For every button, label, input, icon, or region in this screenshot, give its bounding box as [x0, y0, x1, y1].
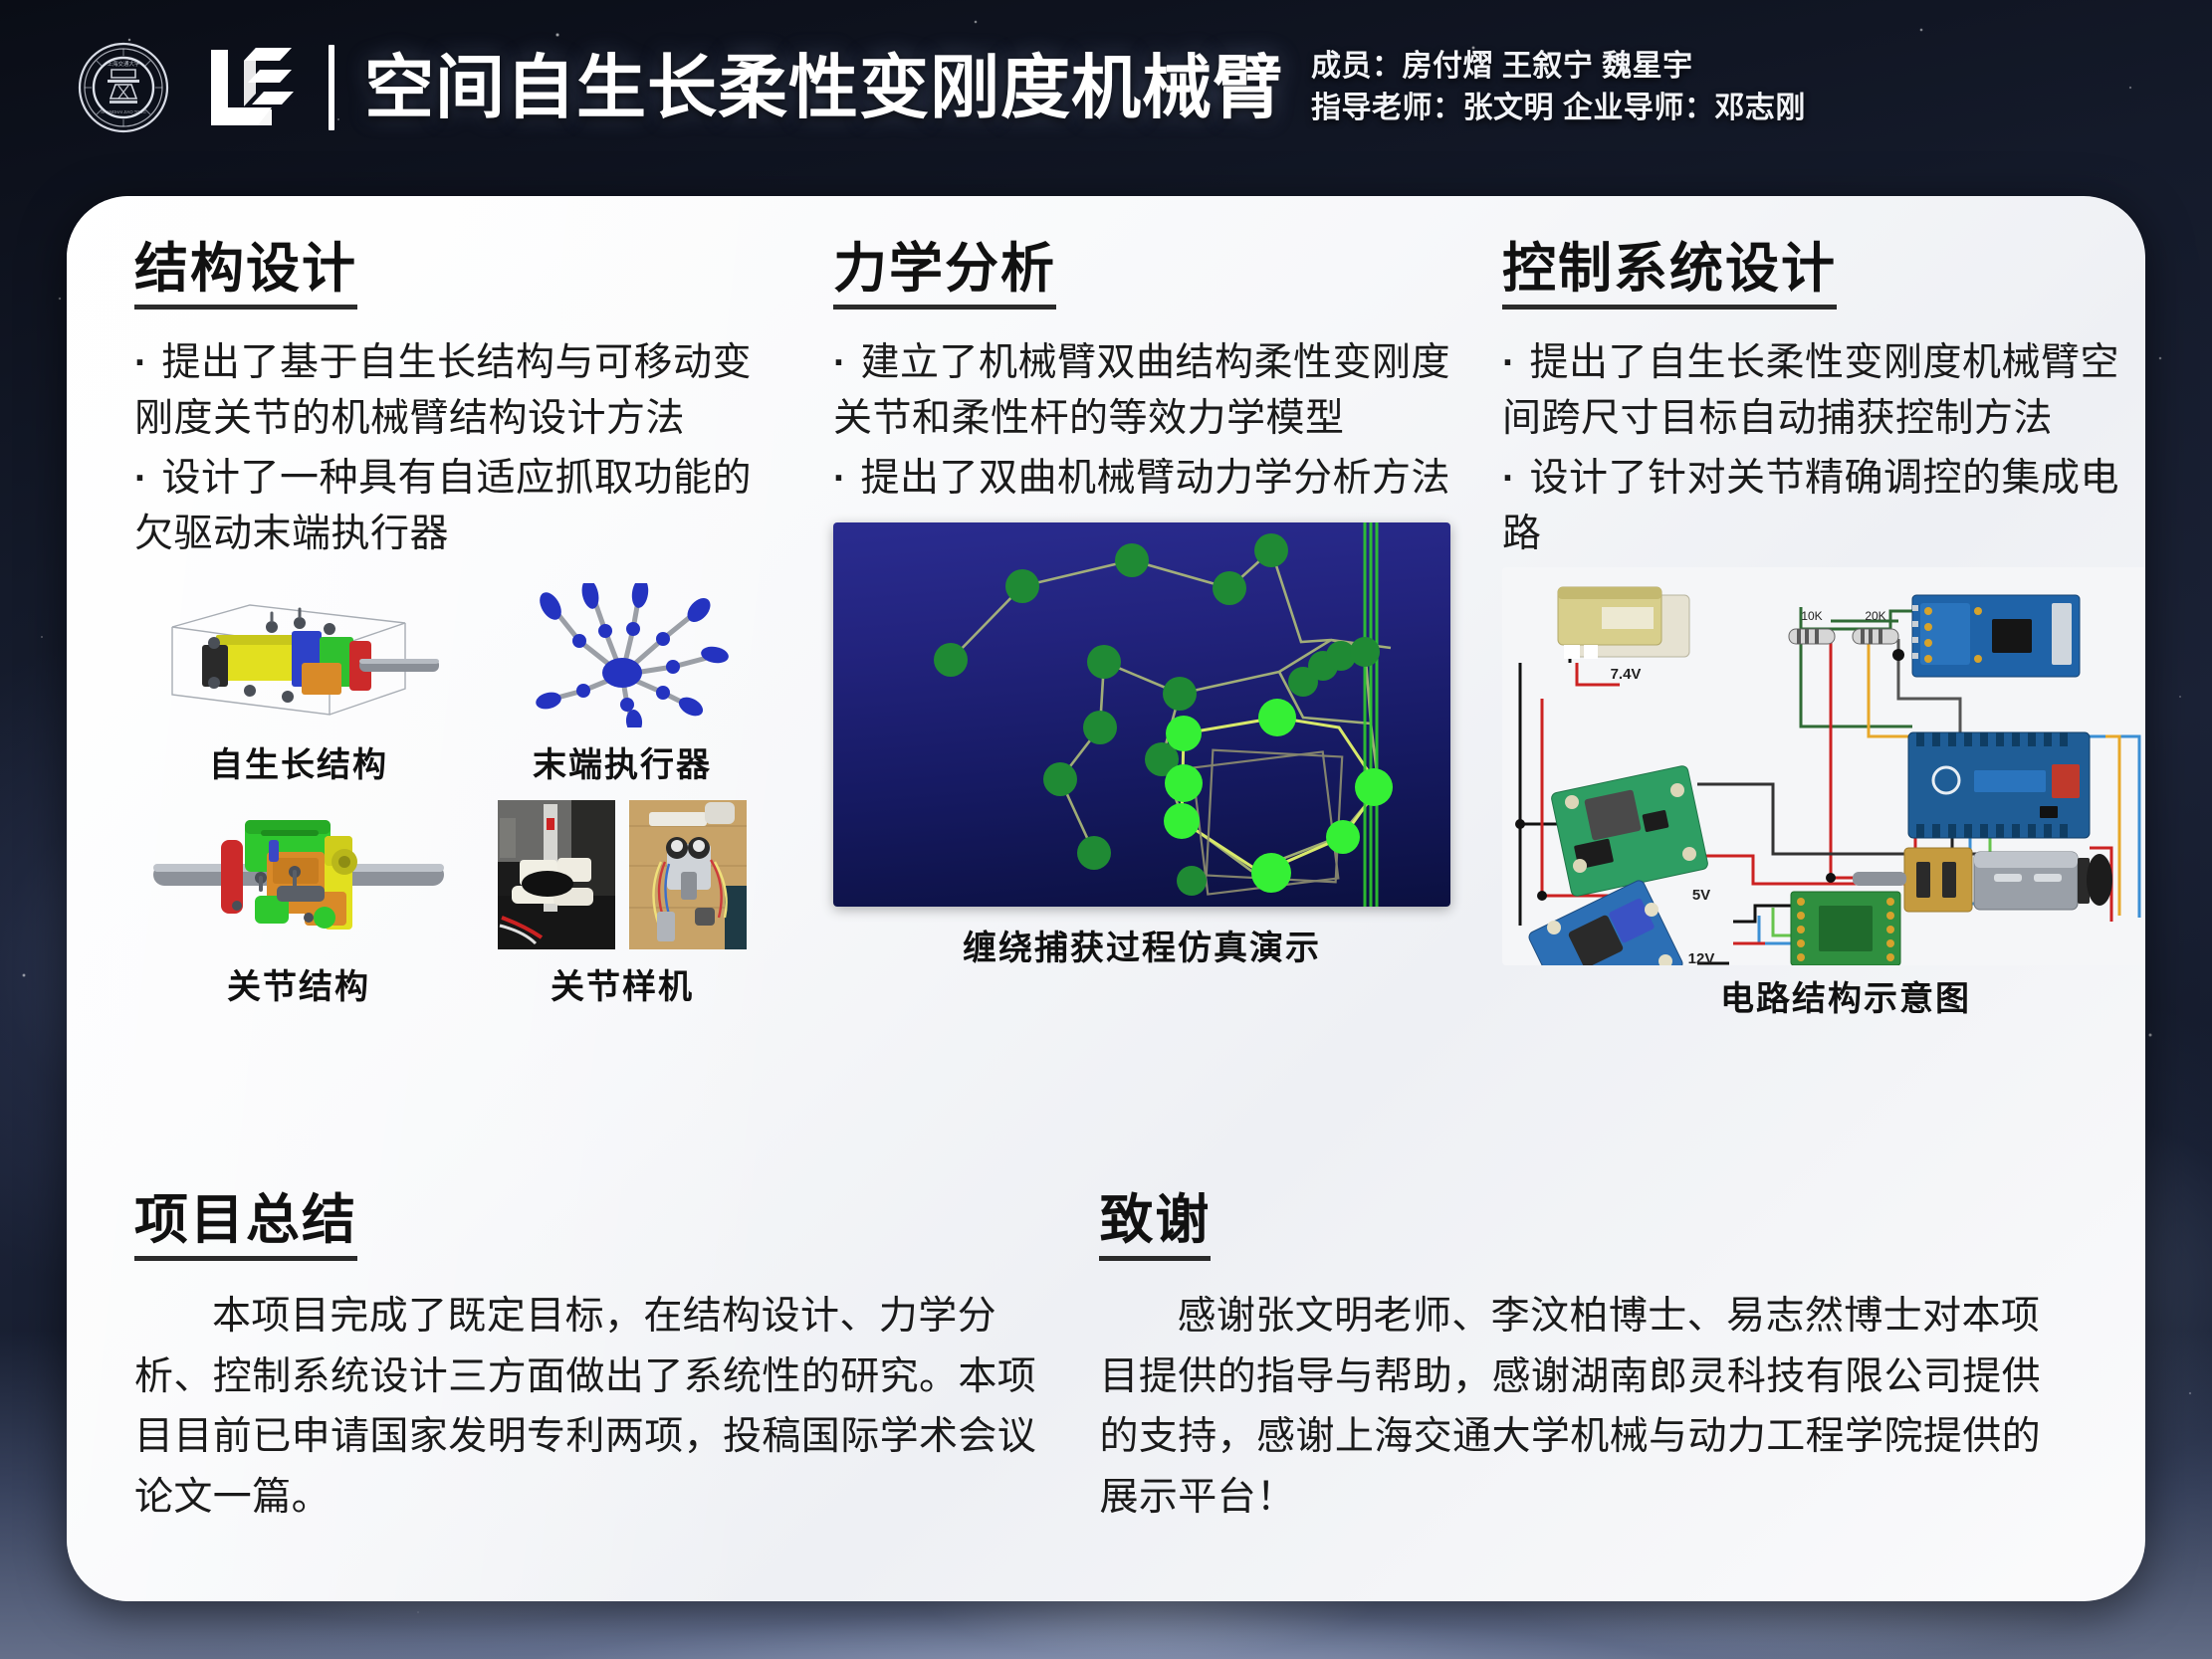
- poster-header: 上海交通大学 SHANGHAI JIAO TONG 空间自生长柔性变刚度机械臂 …: [0, 0, 2212, 174]
- bullet-item: ·设计了一种具有自适应抓取功能的欠驱动末端执行器: [134, 451, 781, 562]
- resistor-10k-label: 10K: [1801, 609, 1822, 623]
- bullet-item: ·提出了自生长柔性变刚度机械臂空间跨尺寸目标自动捕获控制方法: [1502, 335, 2145, 447]
- section-title-structure: 结构设计: [134, 240, 357, 310]
- section-acknowledgement: 致谢 感谢张文明老师、李汶柏博士、易志然博士对本项目提供的指导与帮助，感谢湖南郎…: [1073, 1191, 2103, 1528]
- page-title: 空间自生长柔性变刚度机械臂: [364, 53, 1283, 122]
- prototype-photo-left: [498, 800, 615, 949]
- structure-figure-grid: 自生长结构: [134, 583, 781, 1008]
- bullet-list-structure: ·提出了基于自生长结构与可移动变刚度关节的机械臂结构设计方法 ·设计了一种具有自…: [134, 335, 781, 561]
- bullet-dot-icon: ·: [1502, 457, 1516, 500]
- resistor-20k-label: 20K: [1865, 609, 1885, 623]
- figure-joint-structure: 关节结构: [134, 800, 463, 1008]
- content-card: 结构设计 ·提出了基于自生长结构与可移动变刚度关节的机械臂结构设计方法 ·设计了…: [67, 196, 2145, 1601]
- circuit-schematic-render: 7.4V 5V: [1502, 567, 2145, 965]
- credits-block: 成员：房付熠 王叙宁 魏星宇 指导老师：张文明 企业导师：邓志刚: [1311, 46, 1806, 128]
- ls-brand-logo: [201, 42, 301, 133]
- resistor-10k: [1789, 629, 1835, 644]
- prototype-photo-right: [629, 800, 747, 949]
- buck-voltage-label: 5V: [1692, 887, 1710, 904]
- sjtu-seal-logo: 上海交通大学 SHANGHAI JIAO TONG: [78, 42, 169, 133]
- joint-structure-render: [149, 800, 448, 949]
- end-effector-render: [488, 583, 757, 727]
- credits-members: 成员：房付熠 王叙宁 魏星宇: [1311, 46, 1806, 87]
- bullet-dot-icon: ·: [134, 341, 148, 384]
- bullet-dot-icon: ·: [833, 457, 847, 500]
- bullet-text: 提出了基于自生长结构与可移动变刚度关节的机械臂结构设计方法: [134, 341, 752, 440]
- resistor-20k: [1853, 629, 1898, 644]
- section-project-summary: 项目总结 本项目完成了既定目标，在结构设计、力学分析、控制系统设计三方面做出了系…: [109, 1191, 1073, 1528]
- simulation-figure: [833, 522, 1450, 907]
- bullet-dot-icon: ·: [833, 341, 847, 384]
- three-column-section: 结构设计 ·提出了基于自生长结构与可移动变刚度关节的机械臂结构设计方法 ·设计了…: [67, 196, 2145, 1020]
- figure-self-growing-structure: 自生长结构: [134, 583, 463, 786]
- figure-caption: 关节样机: [551, 959, 694, 1008]
- header-divider: [329, 45, 334, 130]
- section-title-summary: 项目总结: [134, 1191, 357, 1261]
- column-control-system: 控制系统设计 ·提出了自生长柔性变刚度机械臂空间跨尺寸目标自动捕获控制方法 ·设…: [1476, 240, 2145, 1020]
- section-body-summary: 本项目完成了既定目标，在结构设计、力学分析、控制系统设计三方面做出了系统性的研究…: [134, 1287, 1047, 1528]
- bullet-item: ·提出了基于自生长结构与可移动变刚度关节的机械臂结构设计方法: [134, 335, 781, 447]
- column-structure-design: 结构设计 ·提出了基于自生长结构与可移动变刚度关节的机械臂结构设计方法 ·设计了…: [109, 240, 807, 1020]
- svg-text:上海交通大学: 上海交通大学: [107, 60, 140, 68]
- bullet-item: ·设计了针对关节精确调控的集成电路: [1502, 451, 2145, 562]
- arduino-nano: [1908, 732, 2090, 838]
- figure-caption: 缠绕捕获过程仿真演示: [833, 921, 1450, 969]
- motor-driver-board: [1791, 892, 1900, 965]
- column-mechanics-analysis: 力学分析 ·建立了机械臂双曲结构柔性变刚度关节和柔性杆的等效力学模型 ·提出了双…: [807, 240, 1476, 1020]
- credits-advisors: 指导老师：张文明 企业导师：邓志刚: [1311, 88, 1806, 128]
- circuit-figure: 7.4V 5V: [1502, 567, 2145, 965]
- coiling-capture-simulation-render: [833, 522, 1450, 907]
- bullet-item: ·建立了机械臂双曲结构柔性变刚度关节和柔性杆的等效力学模型: [833, 335, 1450, 447]
- figure-row-bottom: 关节结构: [134, 800, 781, 1008]
- bullet-dot-icon: ·: [1502, 341, 1516, 384]
- bullet-item: ·提出了双曲机械臂动力学分析方法: [833, 451, 1450, 507]
- bullet-text: 设计了针对关节精确调控的集成电路: [1502, 457, 2119, 555]
- figure-caption: 关节结构: [227, 959, 370, 1008]
- bullet-text: 提出了双曲机械臂动力学分析方法: [861, 457, 1451, 500]
- battery-7v4: [1558, 587, 1689, 659]
- boost-converter-12v: [1527, 879, 1684, 965]
- figure-end-effector: 末端执行器: [463, 583, 781, 786]
- section-title-control: 控制系统设计: [1502, 240, 1837, 310]
- svg-text:SHANGHAI JIAO TONG: SHANGHAI JIAO TONG: [101, 109, 145, 114]
- bullet-list-control: ·提出了自生长柔性变刚度机械臂空间跨尺寸目标自动捕获控制方法 ·设计了针对关节精…: [1502, 335, 2145, 561]
- figure-caption: 末端执行器: [533, 737, 712, 786]
- bullet-text: 设计了一种具有自适应抓取功能的欠驱动末端执行器: [134, 457, 752, 555]
- section-title-mechanics: 力学分析: [833, 240, 1056, 310]
- bullet-text: 提出了自生长柔性变刚度机械臂空间跨尺寸目标自动捕获控制方法: [1502, 341, 2119, 440]
- bullet-dot-icon: ·: [134, 457, 148, 500]
- figure-row-top: 自生长结构: [134, 583, 781, 786]
- buck-converter-5v: [1551, 765, 1709, 898]
- section-body-acknowledgement: 感谢张文明老师、李汶柏博士、易志然博士对本项目提供的指导与帮助，感谢湖南郎灵科技…: [1099, 1287, 2078, 1528]
- self-growing-structure-render: [154, 583, 443, 727]
- figure-caption: 自生长结构: [209, 737, 388, 786]
- bullet-list-mechanics: ·建立了机械臂双曲结构柔性变刚度关节和柔性杆的等效力学模型 ·提出了双曲机械臂动…: [833, 335, 1450, 506]
- bullet-text: 建立了机械臂双曲结构柔性变刚度关节和柔性杆的等效力学模型: [833, 341, 1450, 440]
- boost-voltage-label: 12V: [1688, 950, 1715, 965]
- figure-joint-prototype: 关节样机: [463, 800, 781, 1008]
- section-title-acknowledgement: 致谢: [1099, 1191, 1211, 1261]
- battery-voltage-label: 7.4V: [1611, 666, 1642, 683]
- bottom-section: 项目总结 本项目完成了既定目标，在结构设计、力学分析、控制系统设计三方面做出了系…: [67, 1191, 2145, 1528]
- figure-caption: 电路结构示意图: [1502, 971, 2145, 1020]
- prototype-photo-pair: [498, 800, 747, 949]
- bluetooth-module: [1912, 595, 2080, 677]
